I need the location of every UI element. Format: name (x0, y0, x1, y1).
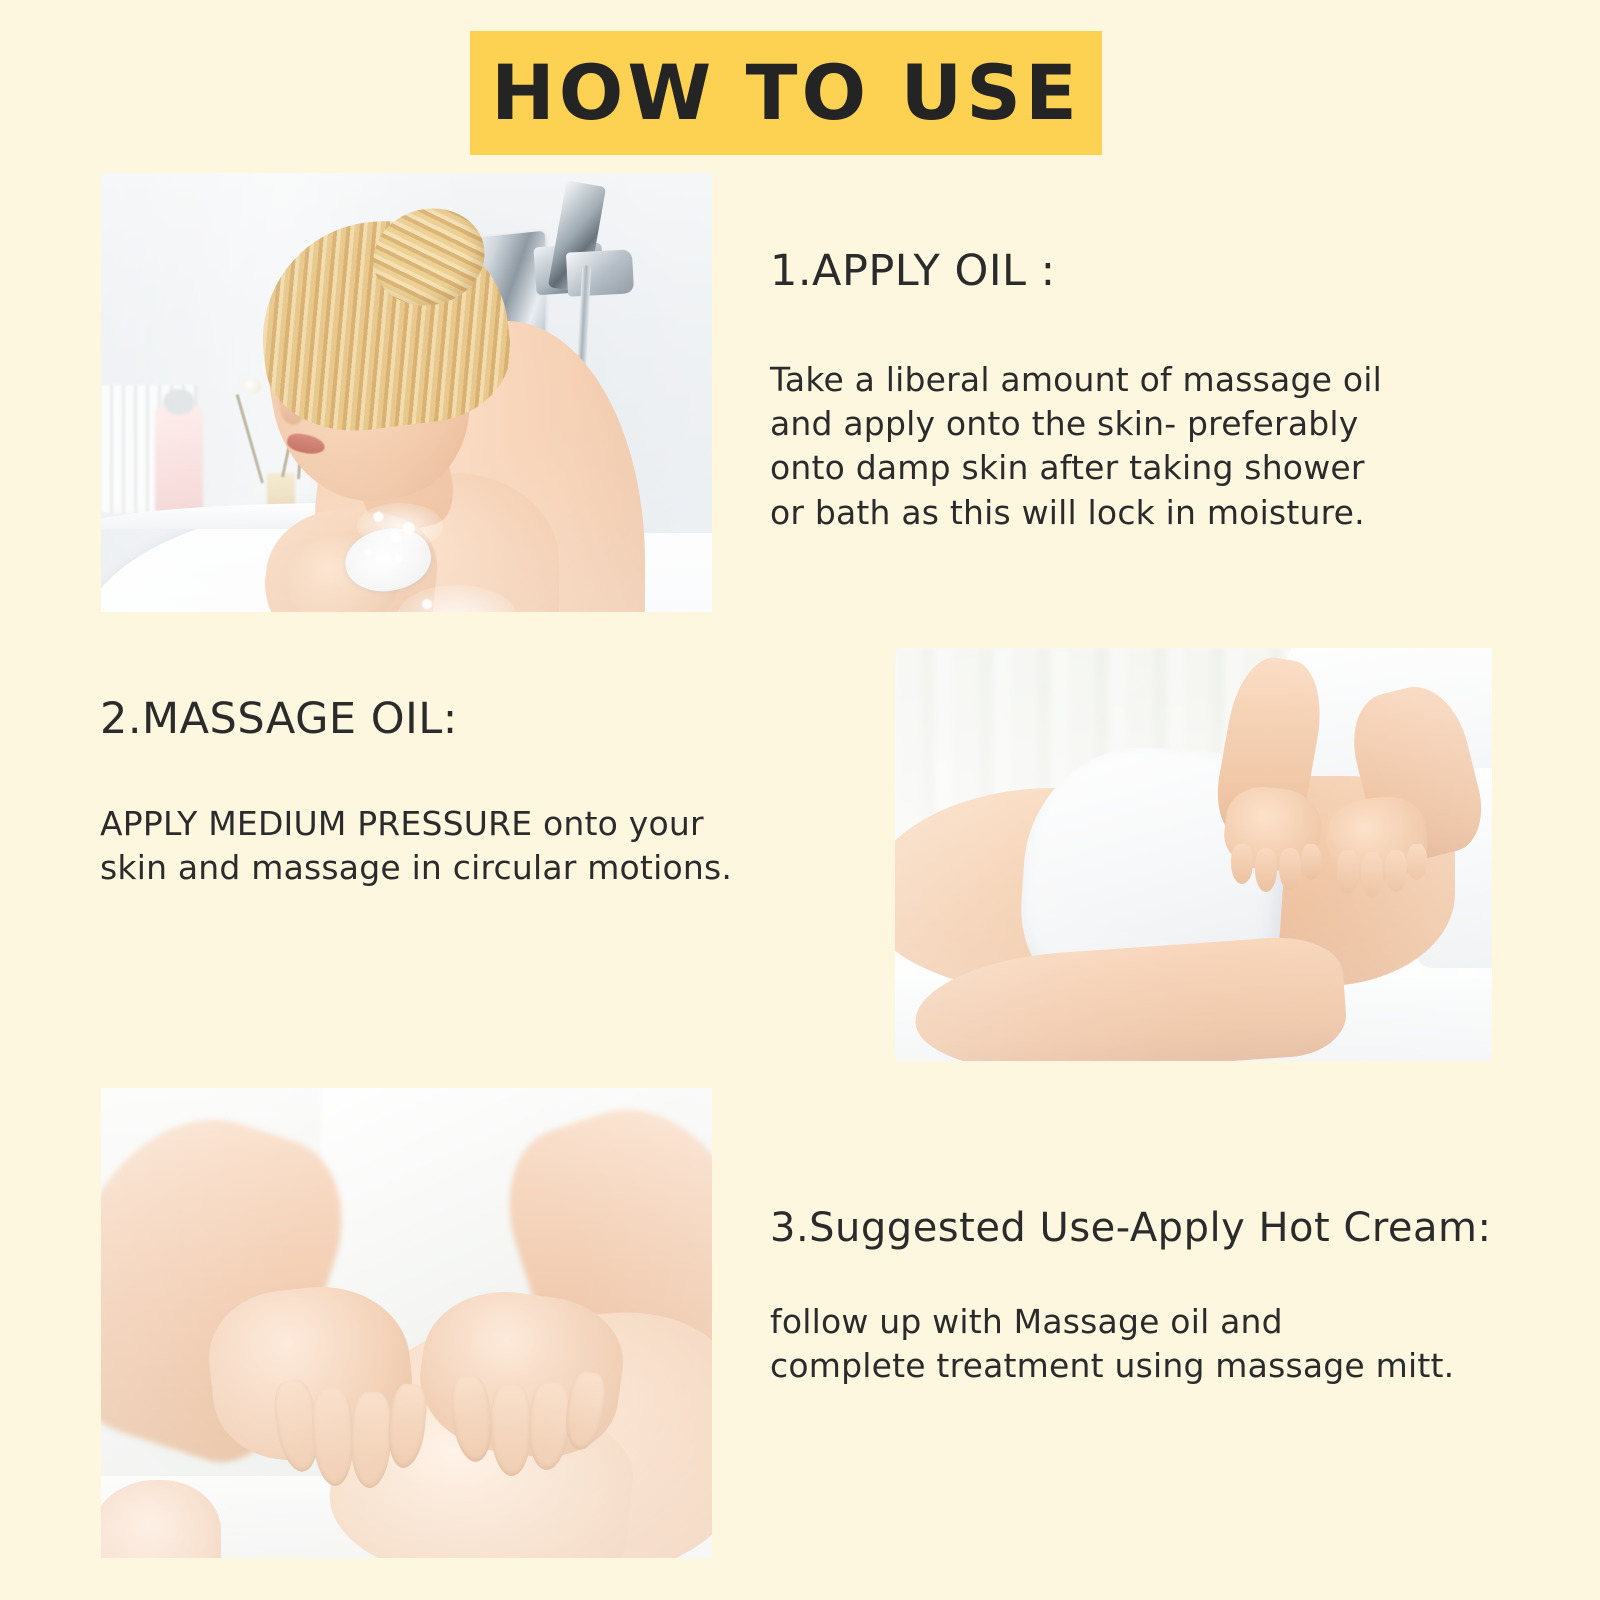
step-1-image (101, 173, 712, 612)
step-2-body-line: APPLY MEDIUM PRESSURE onto your (100, 802, 820, 846)
step-3-body: follow up with Massage oil and complete … (770, 1300, 1510, 1388)
step-1-body-line: and apply onto the skin- preferably (770, 402, 1470, 446)
step-2-heading: 2.MASSAGE OIL: (100, 694, 458, 744)
photo-haze (895, 648, 1492, 1061)
step-3-heading: 3.Suggested Use-Apply Hot Cream: (770, 1205, 1491, 1251)
step-1-heading: 1.APPLY OIL : (770, 246, 1056, 296)
step-1-body-line: onto damp skin after taking shower (770, 446, 1470, 490)
step-3-body-line: follow up with Massage oil and (770, 1300, 1510, 1344)
step-2-image (895, 648, 1492, 1061)
step-1-body-line: Take a liberal amount of massage oil (770, 358, 1470, 402)
step-3-image (101, 1088, 712, 1558)
step-2-body-line: skin and massage in circular motions. (100, 846, 820, 890)
step-2-body: APPLY MEDIUM PRESSURE onto your skin and… (100, 802, 820, 890)
how-to-use-banner: HOW TO USE (470, 31, 1102, 155)
step-1-body: Take a liberal amount of massage oil and… (770, 358, 1470, 535)
step-1-body-line: or bath as this will lock in moisture. (770, 491, 1470, 535)
photo-haze (101, 1088, 712, 1558)
photo-haze (101, 173, 712, 612)
page-title: HOW TO USE (491, 55, 1081, 131)
step-3-body-line: complete treatment using massage mitt. (770, 1344, 1510, 1388)
